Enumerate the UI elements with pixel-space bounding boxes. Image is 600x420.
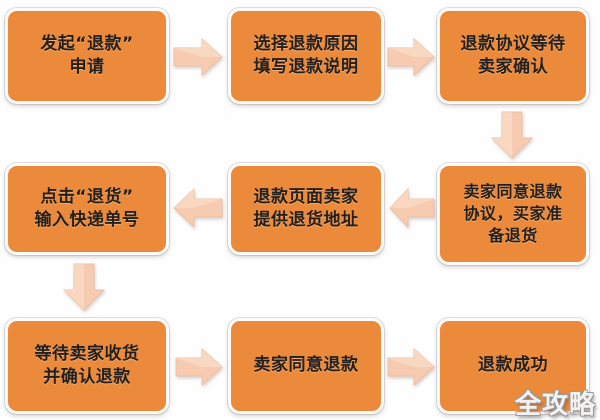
- flow-node-click-return-enter-tracking[interactable]: 点击“退货” 输入快递单号: [5, 163, 169, 255]
- flow-node-await-seller-confirm[interactable]: 退款协议等待 卖家确认: [437, 8, 589, 104]
- flow-node-refund-success[interactable]: 退款成功: [437, 318, 589, 414]
- arrow-down-2: [62, 262, 106, 312]
- flowchart-canvas: 发起“退款” 申请 选择退款原因 填写退款说明 退款协议等待 卖家确认 点击“退…: [0, 0, 600, 420]
- arrow-down-1: [490, 110, 534, 160]
- flow-node-seller-agrees-buyer-prepares-return[interactable]: 卖家同意退款 协议，买家准 备退货: [437, 163, 589, 265]
- arrow-right-4: [386, 346, 436, 388]
- arrow-left-1: [388, 186, 436, 230]
- flow-node-initiate-refund[interactable]: 发起“退款” 申请: [5, 8, 169, 104]
- flow-node-seller-agrees-refund[interactable]: 卖家同意退款: [228, 318, 384, 414]
- arrow-right-1: [172, 36, 224, 78]
- flow-node-select-reason[interactable]: 选择退款原因 填写退款说明: [228, 8, 384, 104]
- flow-node-await-seller-receipt[interactable]: 等待卖家收货 并确认退款: [5, 318, 169, 414]
- arrow-left-2: [172, 186, 224, 230]
- flow-node-seller-provides-return-address[interactable]: 退款页面卖家 提供退货地址: [228, 163, 384, 255]
- arrow-right-2: [386, 36, 436, 78]
- arrow-right-3: [174, 346, 224, 388]
